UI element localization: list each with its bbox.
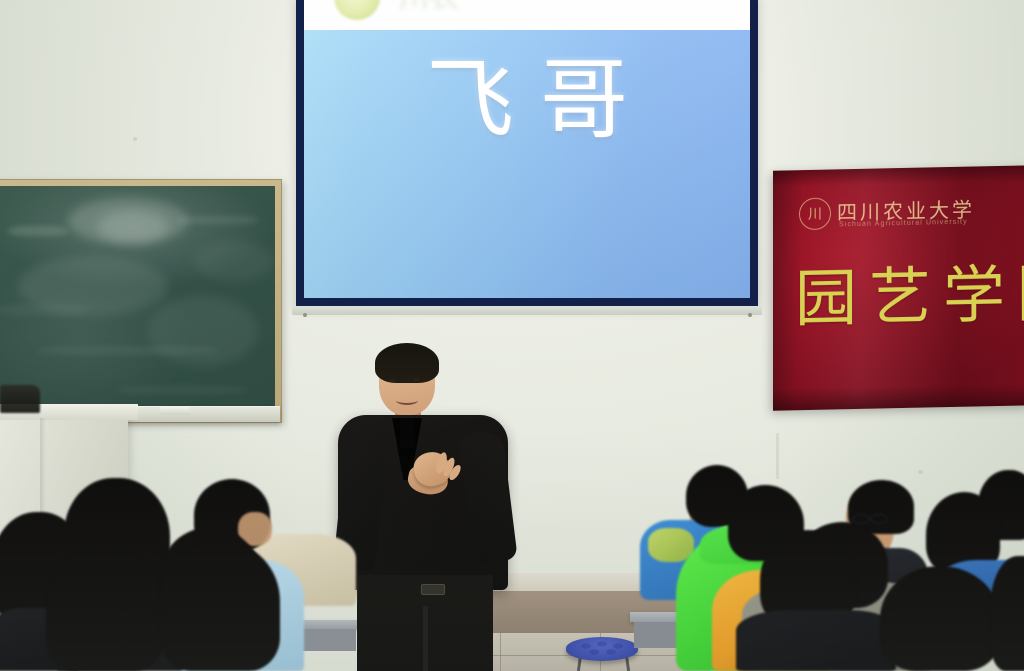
presenter-leg-split <box>423 606 428 671</box>
blackboard-surface <box>0 186 275 414</box>
presenter-eyebrow <box>388 372 398 374</box>
presenter-eyebrow <box>412 371 422 373</box>
wall-crack <box>776 433 779 479</box>
wall-speck <box>918 470 923 474</box>
slide-header-text: 川农 <box>399 0 459 16</box>
student-body <box>736 610 896 671</box>
student-hair <box>46 548 164 671</box>
classroom-photo-scene: 川农 飞哥 川 四川农业大学 Sichuan Agricultural Univ… <box>0 0 1024 671</box>
screen-mount-bracket <box>292 306 762 315</box>
screen-screw <box>303 313 307 317</box>
blackboard-frame <box>0 179 282 423</box>
department-banner: 川 四川农业大学 Sichuan Agricultural University… <box>773 165 1024 410</box>
presenter-hair <box>375 343 439 383</box>
student-hair <box>880 566 1000 671</box>
glasses-icon <box>852 512 892 530</box>
circular-logo-icon <box>334 0 380 20</box>
wall-speck <box>133 137 137 141</box>
presenter-belt <box>421 584 445 595</box>
slide-header-band: 川农 <box>304 0 750 30</box>
student-hair <box>160 542 280 671</box>
projection-screen: 川农 飞哥 <box>296 0 758 306</box>
presenter-eye <box>413 378 420 381</box>
lectern-object <box>0 385 40 413</box>
screen-screw <box>748 313 752 317</box>
slide-title: 飞哥 <box>304 56 750 144</box>
floor-tile-line <box>500 633 501 671</box>
presenter-eye <box>389 379 396 382</box>
presenter-mouth <box>396 396 418 405</box>
blue-stool <box>566 637 638 661</box>
banner-college-name: 园艺学院 <box>795 262 1024 330</box>
banner-university-name-en: Sichuan Agricultural University <box>839 219 968 229</box>
university-seal-icon: 川 <box>799 197 831 230</box>
chalk-eraser <box>160 407 190 415</box>
projection-screen-surface: 川农 飞哥 <box>304 0 750 298</box>
